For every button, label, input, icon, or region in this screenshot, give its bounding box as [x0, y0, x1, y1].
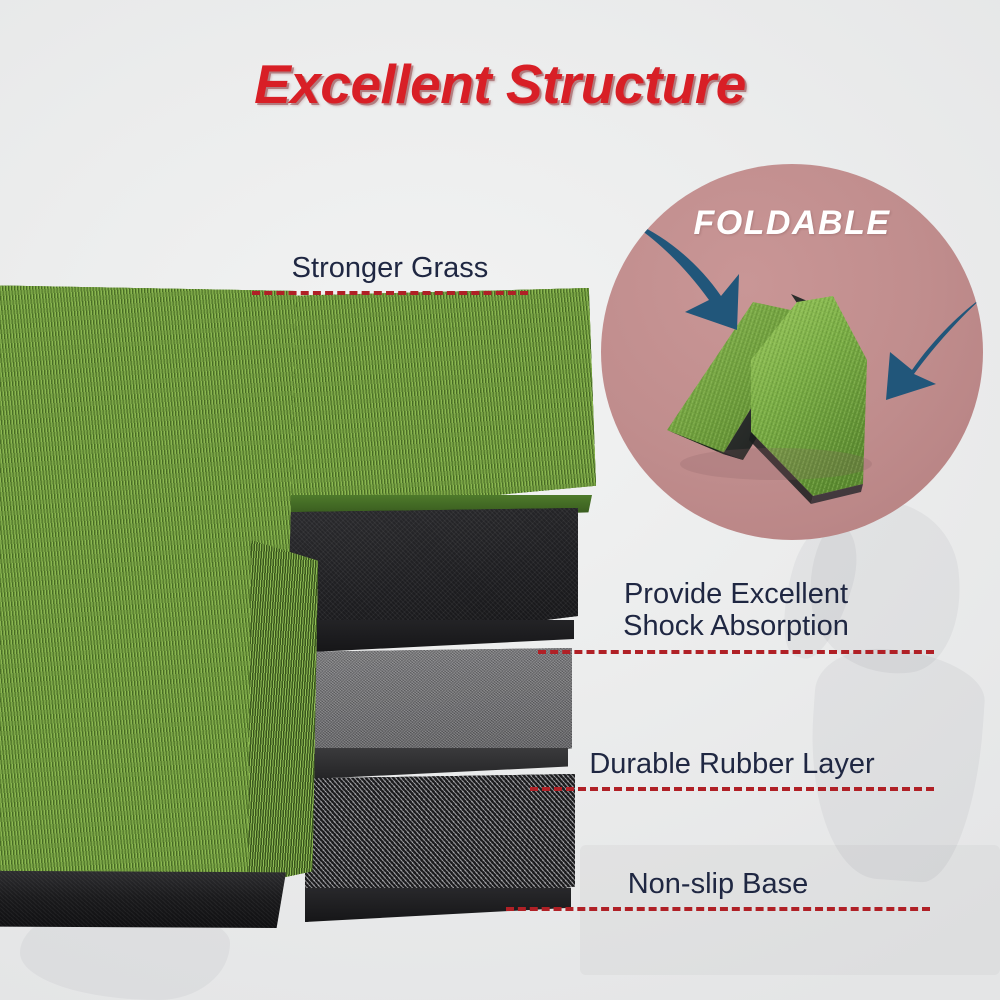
callout-dashed-rule [252, 291, 528, 295]
callout-shock-absorption: Provide Excellent Shock Absorption [538, 578, 934, 654]
callout-label-line2: Shock Absorption [538, 610, 934, 642]
fold-arrow-left-icon [617, 212, 757, 342]
callout-dashed-rule [530, 787, 934, 791]
callout-dashed-rule [506, 907, 930, 911]
page-title: Excellent Structure [0, 52, 1000, 116]
callout-non-slip-base: Non-slip Base [506, 868, 930, 911]
callout-label: Stronger Grass [252, 252, 528, 284]
foreground-mat-base-edge [0, 870, 286, 928]
callout-label-line1: Provide Excellent [538, 578, 934, 610]
infographic-canvas: Excellent Structure Stronger Grass Provi… [0, 0, 1000, 1000]
callout-label: Durable Rubber Layer [530, 748, 934, 780]
fold-arrow-right-icon [856, 294, 983, 402]
foldable-badge: FOLDABLE [601, 164, 983, 540]
fold-mat-shadow [680, 448, 872, 480]
callout-stronger-grass: Stronger Grass [252, 252, 528, 295]
foreground-grass-fringe [248, 540, 318, 885]
callout-dashed-rule [538, 650, 934, 654]
callout-durable-rubber: Durable Rubber Layer [530, 748, 934, 791]
callout-label: Non-slip Base [506, 868, 930, 900]
